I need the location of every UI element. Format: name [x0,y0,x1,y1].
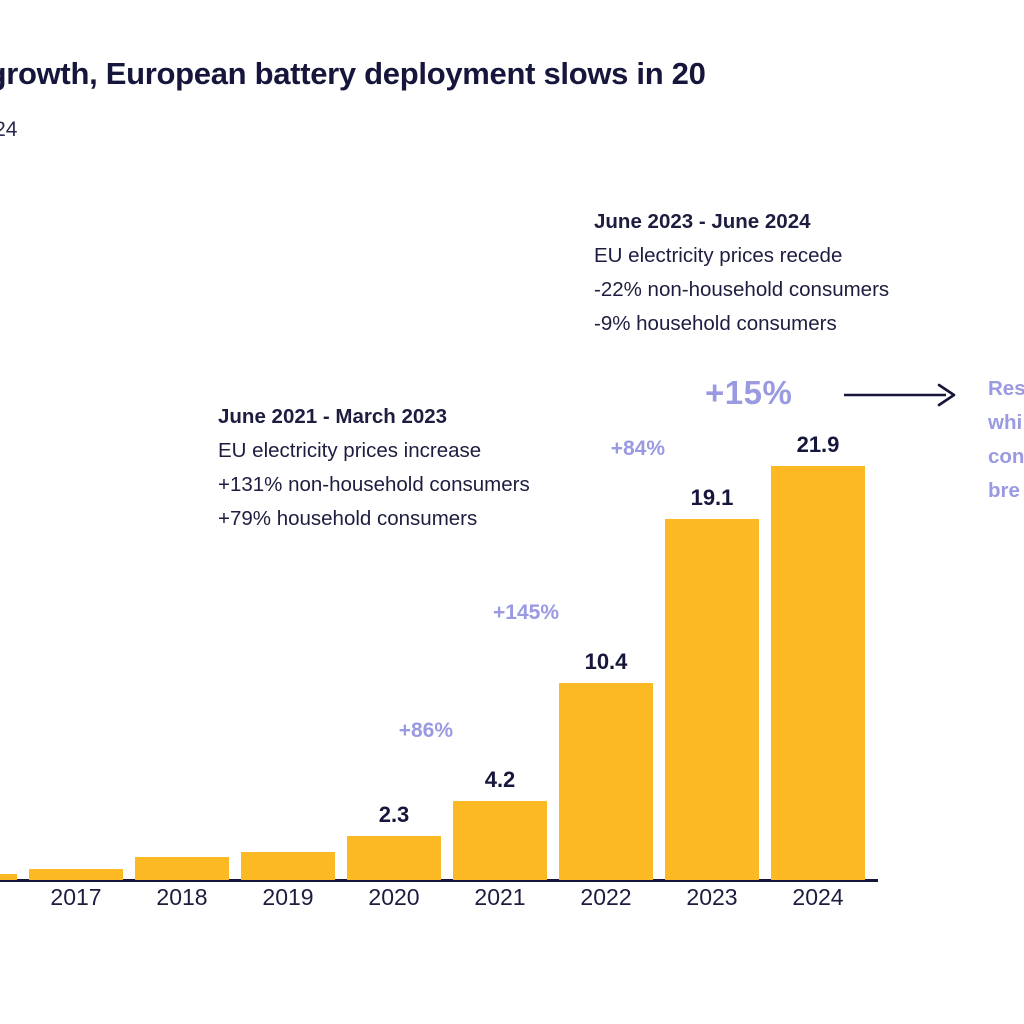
bar-value-label-2023: 19.1 [645,485,779,511]
x-tick-label-2021: 2021 [453,884,547,911]
bar-value-label-2021: 4.2 [433,767,567,793]
growth-label-2022: +145% [449,601,559,625]
x-tick-label-2017: 2017 [29,884,123,911]
bar-2016[interactable] [0,874,17,880]
bar-2023[interactable] [665,519,759,880]
bar-value-label-2024: 21.9 [751,432,885,458]
growth-label-2023: +84% [555,437,665,461]
bar-2022[interactable] [559,683,653,880]
growth-label-2021: +86% [343,719,453,743]
bar-2021[interactable] [453,801,547,880]
x-tick-label-2019: 2019 [241,884,335,911]
x-tick-label-2020: 2020 [347,884,441,911]
bar-2020[interactable] [347,836,441,880]
x-tick-label-2024: 2024 [771,884,865,911]
bar-value-label-2020: 2.3 [327,802,461,828]
bar-chart-plot: 2017201820192.320204.2+86%202110.4+145%2… [0,0,1024,1024]
x-tick-label-2018: 2018 [135,884,229,911]
bar-value-label-2022: 10.4 [539,649,673,675]
bar-2018[interactable] [135,857,229,880]
x-tick-label-2022: 2022 [559,884,653,911]
x-tick-label-2023: 2023 [665,884,759,911]
bar-2019[interactable] [241,852,335,880]
bar-2017[interactable] [29,869,123,880]
bar-2024[interactable] [771,466,865,880]
